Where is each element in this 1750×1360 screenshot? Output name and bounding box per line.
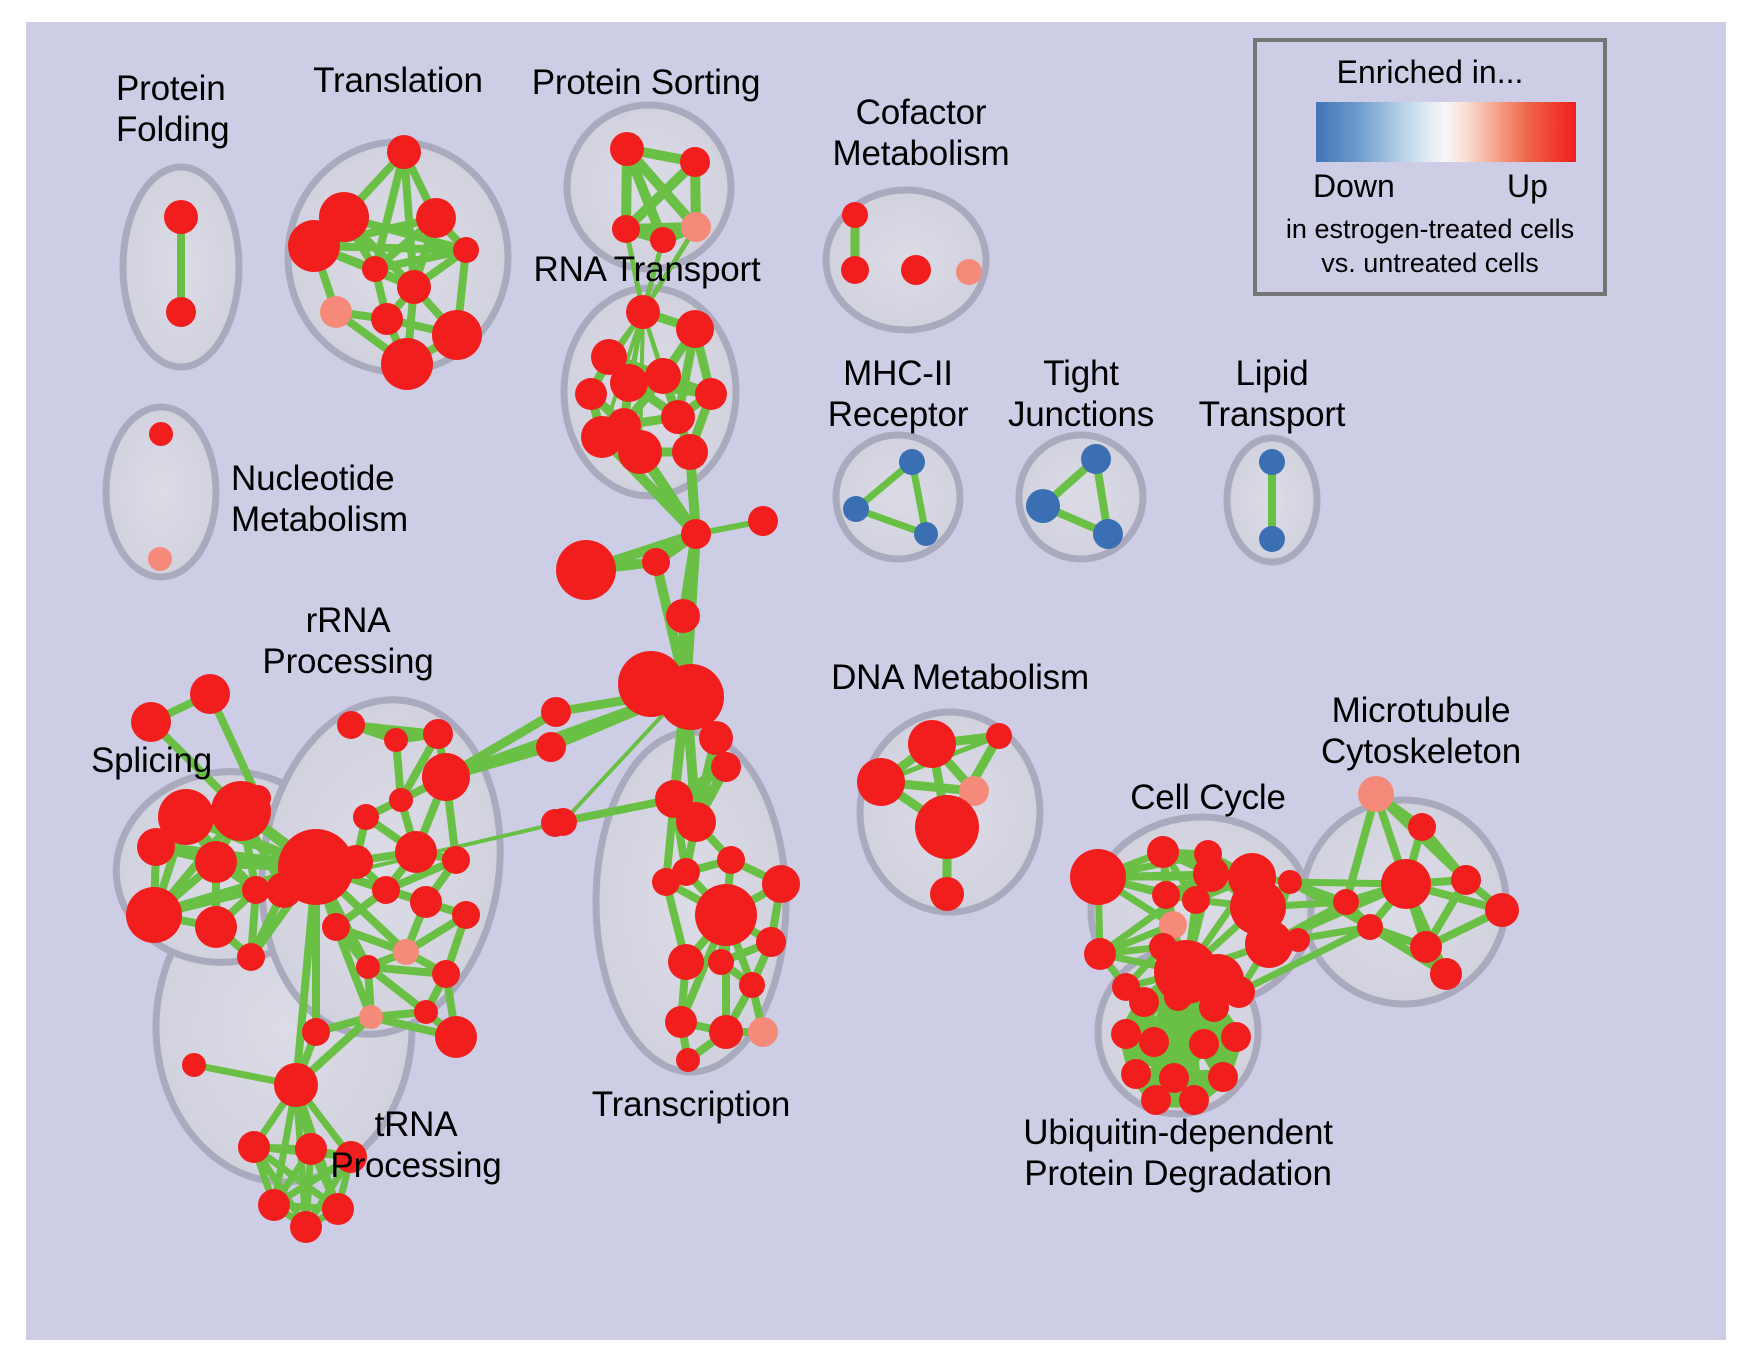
- node: [680, 147, 710, 177]
- cluster-label-protein-folding: Protein Folding: [116, 68, 229, 150]
- node: [762, 865, 800, 903]
- node: [556, 540, 616, 600]
- node: [665, 1006, 697, 1038]
- node: [432, 960, 460, 988]
- node: [1358, 776, 1394, 812]
- legend-up-label: Up: [1507, 168, 1548, 205]
- node: [709, 1015, 743, 1049]
- node: [131, 702, 171, 742]
- node: [626, 295, 660, 329]
- node: [717, 846, 745, 874]
- node: [381, 338, 433, 390]
- node: [362, 256, 388, 282]
- node: [699, 721, 733, 755]
- node: [1179, 1085, 1209, 1115]
- node: [901, 255, 931, 285]
- node: [695, 884, 757, 946]
- node: [610, 132, 644, 166]
- node: [541, 809, 569, 837]
- node: [442, 846, 470, 874]
- node: [676, 310, 714, 348]
- node: [237, 943, 265, 971]
- node: [149, 422, 173, 446]
- node: [1408, 813, 1436, 841]
- node: [1111, 1019, 1141, 1049]
- cluster-label-ubiquitin-protein-degradation: Ubiquitin-dependent Protein Degradation: [1023, 1112, 1333, 1194]
- node: [295, 1133, 327, 1165]
- node: [414, 1000, 438, 1024]
- node: [1381, 859, 1431, 909]
- cluster-label-tight-junctions: Tight Junctions: [1008, 353, 1154, 435]
- node: [1081, 444, 1111, 474]
- node: [645, 358, 681, 394]
- node: [453, 237, 479, 263]
- node: [1189, 1029, 1219, 1059]
- node: [190, 674, 230, 714]
- node: [126, 887, 182, 943]
- figure-canvas: Protein Folding Translation Nucleotide M…: [0, 0, 1750, 1360]
- node: [1147, 836, 1179, 868]
- node: [642, 548, 670, 576]
- node: [432, 310, 482, 360]
- node: [393, 939, 419, 965]
- node: [661, 400, 695, 434]
- node: [195, 906, 237, 948]
- node: [320, 296, 352, 328]
- node: [1199, 992, 1229, 1022]
- legend-panel: Enriched in... Down Up in estrogen-treat…: [1253, 38, 1607, 296]
- node: [1129, 987, 1159, 1017]
- node: [435, 1016, 477, 1058]
- node: [666, 599, 700, 633]
- node: [1259, 526, 1285, 552]
- node: [1164, 983, 1192, 1011]
- node: [416, 198, 456, 238]
- node: [1333, 889, 1359, 915]
- node: [359, 1005, 383, 1029]
- node: [1357, 914, 1383, 940]
- node: [1278, 870, 1302, 894]
- node: [708, 949, 734, 975]
- node: [930, 877, 964, 911]
- node: [756, 927, 786, 957]
- node: [371, 303, 403, 335]
- node: [681, 519, 711, 549]
- node: [1121, 1059, 1151, 1089]
- node: [302, 1018, 330, 1046]
- legend-title: Enriched in...: [1257, 54, 1603, 91]
- node: [1245, 920, 1293, 968]
- node: [322, 1193, 354, 1225]
- node: [422, 753, 470, 801]
- node: [389, 788, 413, 812]
- node: [1286, 928, 1310, 952]
- node: [395, 831, 437, 873]
- node: [672, 434, 708, 470]
- cluster-label-rna-transport: RNA Transport: [534, 249, 761, 290]
- node: [1410, 931, 1442, 963]
- node: [182, 1053, 206, 1077]
- node: [908, 720, 956, 768]
- node: [1152, 881, 1180, 909]
- node: [423, 719, 453, 749]
- node: [1451, 865, 1481, 895]
- legend-subtitle-line1: in estrogen-treated cells: [1257, 214, 1603, 245]
- node: [652, 868, 680, 896]
- cluster-label-transcription: Transcription: [592, 1084, 790, 1125]
- node: [575, 378, 607, 410]
- node: [842, 202, 868, 228]
- node: [914, 522, 938, 546]
- node: [841, 256, 869, 284]
- node: [1485, 893, 1519, 927]
- node: [387, 135, 421, 169]
- node: [915, 795, 979, 859]
- node: [1208, 1062, 1238, 1092]
- node: [1139, 1027, 1169, 1057]
- halo-protein-sorting: [567, 105, 731, 269]
- node: [899, 449, 925, 475]
- cluster-label-nucleotide-metabolism: Nucleotide Metabolism: [231, 458, 408, 540]
- node: [618, 430, 662, 474]
- node: [695, 378, 727, 410]
- node: [610, 364, 648, 402]
- node: [258, 1189, 290, 1221]
- cluster-label-dna-metabolism: DNA Metabolism: [831, 657, 1089, 698]
- node: [676, 1048, 700, 1072]
- node: [211, 781, 271, 841]
- legend-subtitle-line2: vs. untreated cells: [1257, 248, 1603, 279]
- node: [166, 297, 196, 327]
- node: [536, 732, 566, 762]
- cluster-label-splicing: Splicing: [91, 740, 212, 781]
- node: [1141, 1085, 1171, 1115]
- cluster-label-rrna-processing: rRNA Processing: [262, 600, 433, 682]
- node: [681, 212, 711, 242]
- legend-color-gradient-bar: [1316, 102, 1576, 162]
- node: [322, 913, 350, 941]
- node: [397, 270, 431, 304]
- node: [668, 944, 704, 980]
- cluster-label-microtubule-cytoskeleton: Microtubule Cytoskeleton: [1321, 690, 1521, 772]
- node: [288, 220, 340, 272]
- node: [1093, 519, 1123, 549]
- node: [1070, 849, 1126, 905]
- node: [1221, 1022, 1251, 1052]
- cluster-label-protein-sorting: Protein Sorting: [532, 62, 761, 103]
- node: [356, 955, 380, 979]
- network-plot-area: Protein Folding Translation Nucleotide M…: [26, 22, 1726, 1340]
- node: [290, 1211, 322, 1243]
- node: [337, 711, 365, 739]
- node: [711, 752, 741, 782]
- cluster-label-translation: Translation: [313, 60, 483, 101]
- node: [1026, 489, 1060, 523]
- node: [242, 876, 270, 904]
- node: [1084, 938, 1116, 970]
- node: [148, 547, 172, 571]
- node: [1193, 856, 1229, 892]
- cluster-label-lipid-transport: Lipid Transport: [1199, 353, 1346, 435]
- node: [541, 697, 571, 727]
- cluster-label-mhc-ii-receptor: MHC-II Receptor: [828, 353, 968, 435]
- node: [612, 215, 640, 243]
- node: [238, 1131, 270, 1163]
- node: [278, 829, 354, 905]
- node: [384, 728, 408, 752]
- node: [410, 886, 442, 918]
- node: [1430, 958, 1462, 990]
- node: [452, 901, 480, 929]
- node: [843, 496, 869, 522]
- node: [581, 416, 623, 458]
- node: [1259, 449, 1285, 475]
- node: [748, 1017, 778, 1047]
- node: [986, 723, 1012, 749]
- cluster-label-trna-processing: tRNA Processing: [330, 1104, 501, 1186]
- cluster-label-cell-cycle: Cell Cycle: [1130, 777, 1286, 818]
- node: [274, 1063, 318, 1107]
- node: [372, 876, 400, 904]
- node: [195, 841, 237, 883]
- legend-down-label: Down: [1313, 168, 1395, 205]
- cluster-label-cofactor-metabolism: Cofactor Metabolism: [833, 92, 1010, 174]
- node: [857, 758, 905, 806]
- node: [658, 664, 724, 730]
- node: [353, 804, 379, 830]
- node: [676, 802, 716, 842]
- node: [164, 200, 198, 234]
- node: [739, 972, 765, 998]
- node: [956, 259, 982, 285]
- node: [137, 828, 175, 866]
- node: [748, 506, 778, 536]
